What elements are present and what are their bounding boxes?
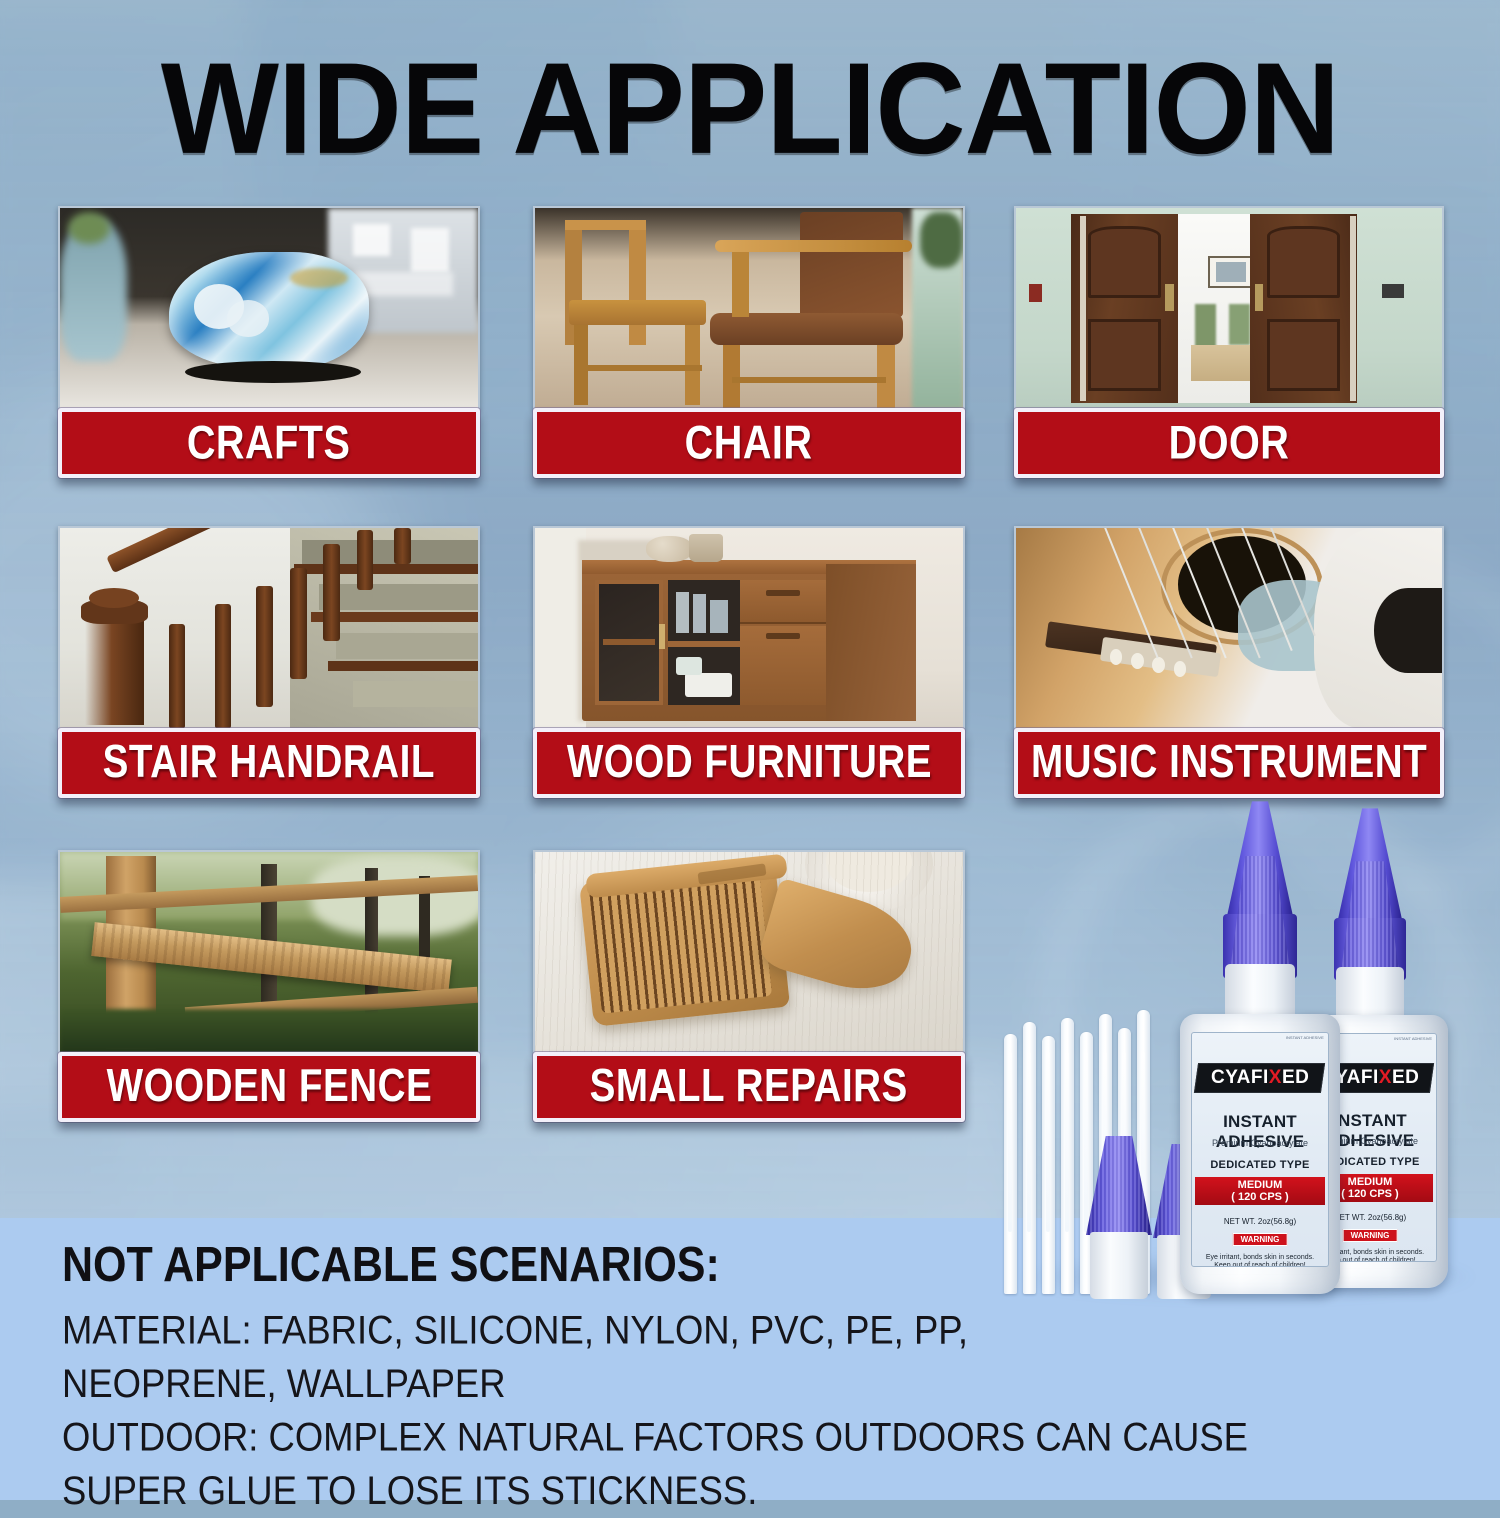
viscosity-name: MEDIUM <box>1195 1179 1325 1191</box>
banner-label: STAIR HANDRAIL <box>103 739 435 786</box>
banner-label: CHAIR <box>685 419 813 466</box>
warning-text: Eye irritant, bonds skin in seconds. Kee… <box>1198 1254 1323 1267</box>
label-net-weight: NET WT. 2oz(56.8g) <box>1192 1217 1328 1226</box>
banner-label: WOODEN FENCE <box>106 1063 432 1110</box>
viscosity-value: ( 120 CPS ) <box>1195 1191 1325 1203</box>
banner-small-repairs: SMALL REPAIRS <box>533 1052 965 1122</box>
brand-part2: ED <box>1392 1067 1419 1088</box>
banner-label: MUSIC INSTRUMENT <box>1031 739 1427 786</box>
photo-crystal-sculpture <box>58 206 480 411</box>
warning-badge: WARNING <box>1233 1233 1288 1246</box>
disclaimer-heading: NOT APPLICABLE SCENARIOS: <box>62 1240 720 1290</box>
label-top-small: INSTANT ADHESIVE <box>1394 1036 1432 1041</box>
grid-row: STAIR HANDRAIL <box>0 516 1500 840</box>
applicator-tip <box>1042 1036 1055 1294</box>
applicator-tip <box>1004 1034 1017 1294</box>
photo-stair-balustrade <box>58 526 480 731</box>
spare-cap-ridges <box>1086 1136 1152 1235</box>
label-subtitle: Premium Cyanoacrylate <box>1192 1138 1328 1148</box>
banner-music-instrument: MUSIC INSTRUMENT <box>1014 728 1444 798</box>
banner-wood-furniture: WOOD FURNITURE <box>533 728 965 798</box>
brand-logo: CYAFIXED <box>1194 1063 1326 1093</box>
brand-x: X <box>1269 1067 1282 1088</box>
banner-door: DOOR <box>1014 408 1444 478</box>
banner-label: CRAFTS <box>187 419 351 466</box>
banner-label: WOOD FURNITURE <box>566 739 931 786</box>
banner-chair: CHAIR <box>533 408 965 478</box>
photo-acoustic-guitar <box>1014 526 1444 731</box>
disclaimer-body: MATERIAL: FABRIC, SILICONE, NYLON, PVC, … <box>62 1304 1303 1518</box>
brand-part1: CYAFI <box>1211 1067 1269 1088</box>
bottle-label: INSTANT ADHESIVE CYAFIXED INSTANT ADHESI… <box>1191 1032 1329 1267</box>
photo-wooden-fence <box>58 850 480 1055</box>
brand-part2: ED <box>1282 1067 1309 1088</box>
label-top-small: INSTANT ADHESIVE <box>1286 1035 1324 1040</box>
photo-wooden-chairs <box>533 206 965 411</box>
banner-crafts: CRAFTS <box>58 408 480 478</box>
label-viscosity: MEDIUM ( 120 CPS ) <box>1195 1177 1325 1205</box>
spare-cap-base <box>1090 1232 1148 1299</box>
applicator-tip <box>1023 1022 1036 1294</box>
label-type: DEDICATED TYPE <box>1192 1159 1328 1171</box>
banner-stair-handrail: STAIR HANDRAIL <box>58 728 480 798</box>
photo-wood-sideboard <box>533 526 965 731</box>
banner-label: SMALL REPAIRS <box>590 1063 908 1110</box>
glue-bottle-front: INSTANT ADHESIVE CYAFIXED INSTANT ADHESI… <box>1180 842 1340 1294</box>
spare-cap <box>1086 1136 1152 1296</box>
brand-x: X <box>1379 1067 1392 1088</box>
grid-row: CRAFTS <box>0 196 1500 516</box>
banner-label: DOOR <box>1169 419 1290 466</box>
warning-badge: WARNING <box>1343 1229 1398 1242</box>
applicator-tip <box>1061 1018 1074 1294</box>
page-title: WIDE APPLICATION <box>0 44 1500 174</box>
banner-wooden-fence: WOODEN FENCE <box>58 1052 480 1122</box>
product-composition: INSTANT ADHESIVE CYAFIXED INSTANT ADHESI… <box>990 834 1490 1304</box>
photo-wooden-comb <box>533 850 965 1055</box>
photo-wooden-double-door <box>1014 206 1444 411</box>
